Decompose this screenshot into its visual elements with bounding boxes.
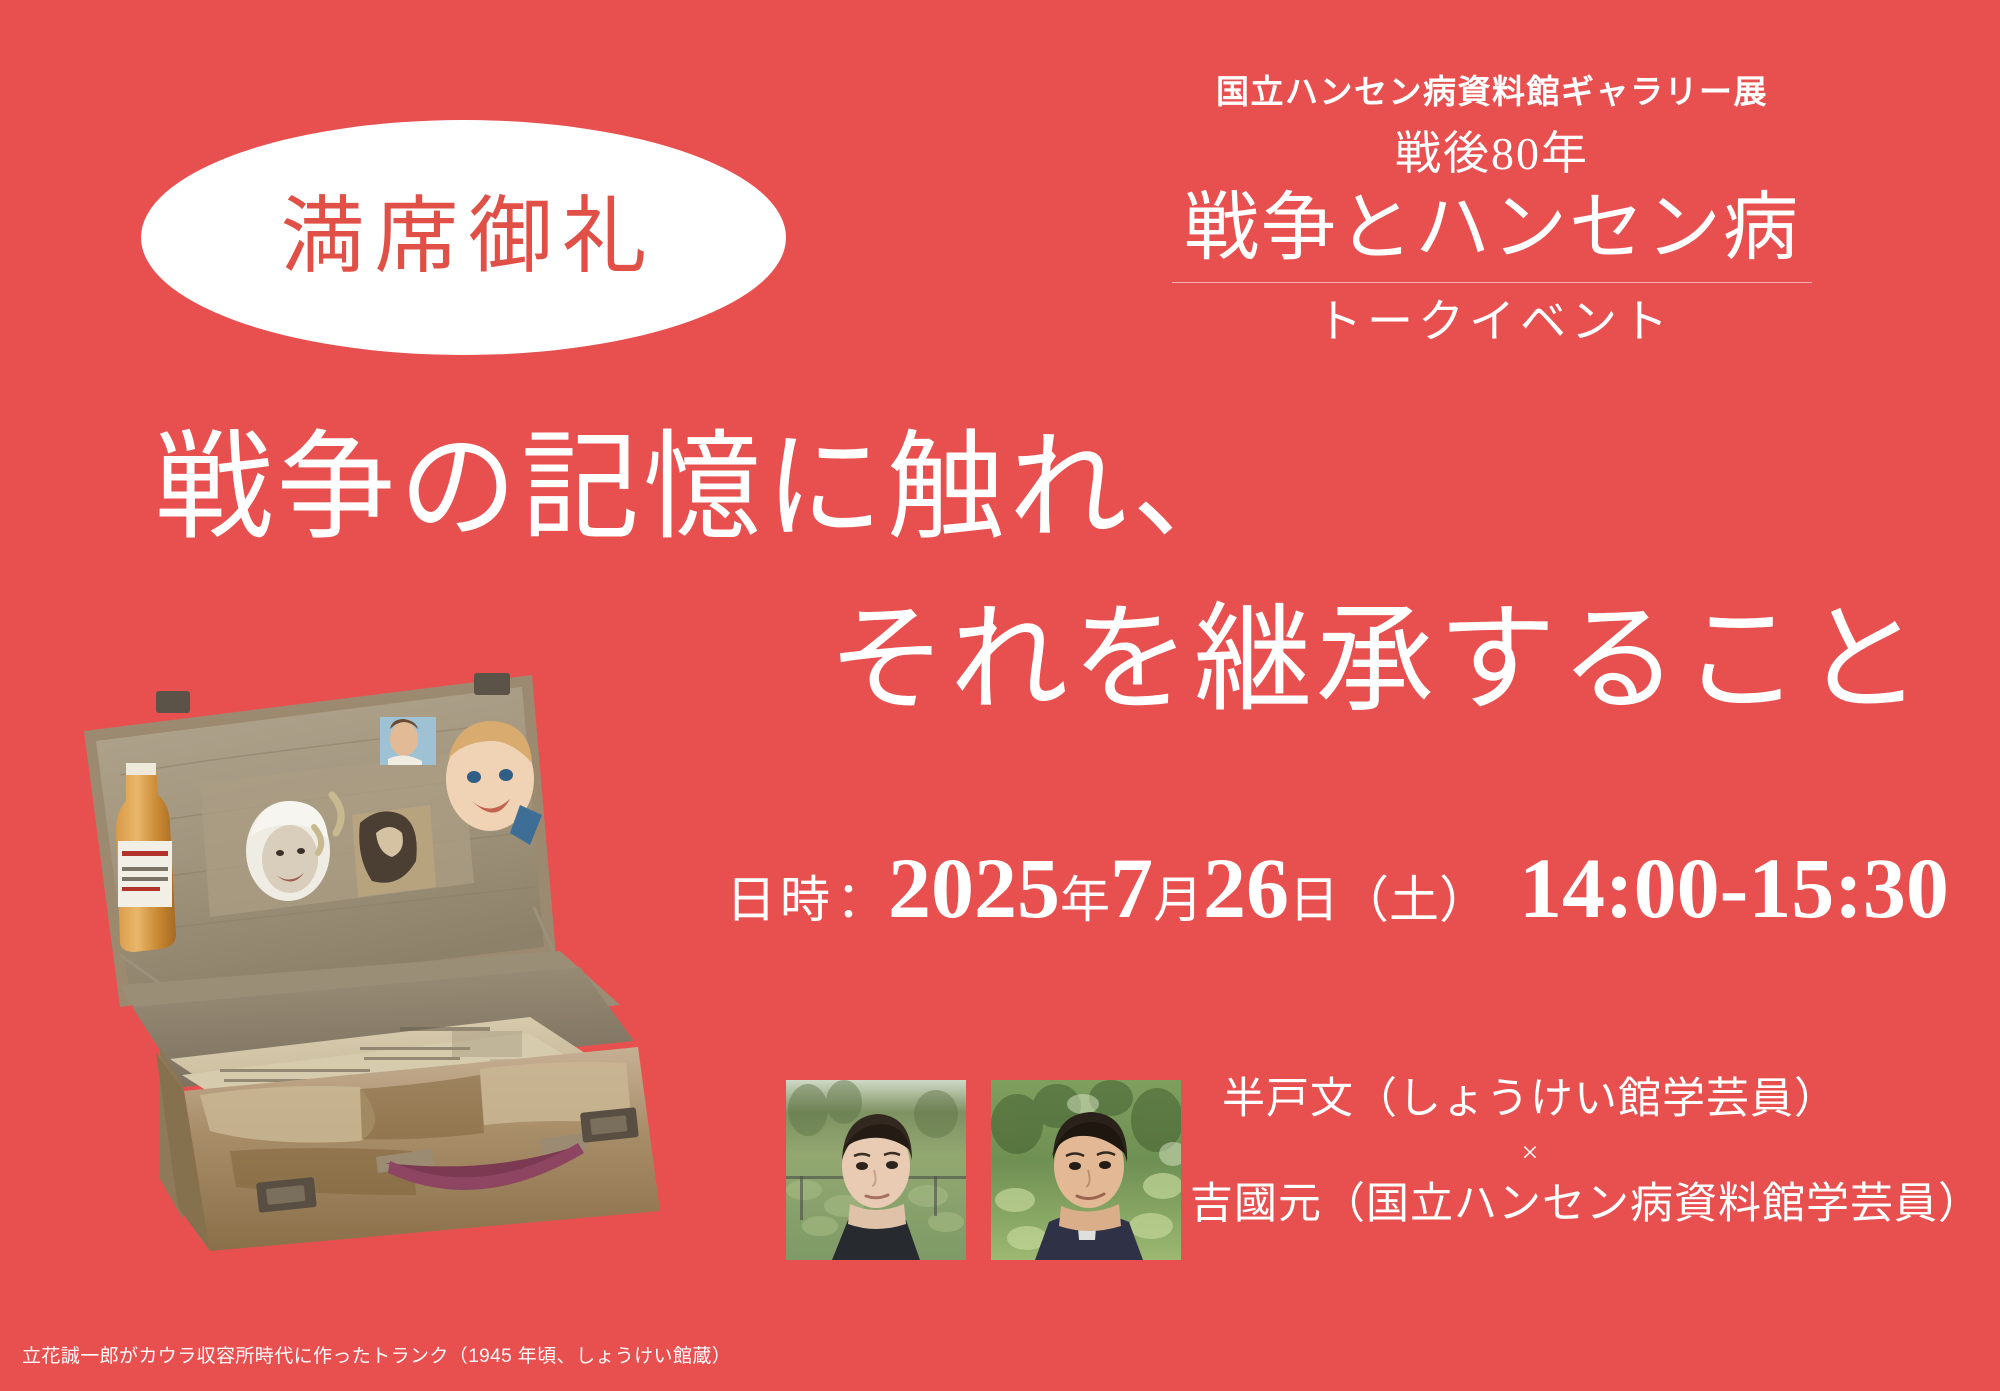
sold-out-label: 満席御礼 — [270, 196, 656, 280]
exhibition-title: 戦争とハンセン病 — [1102, 186, 1882, 272]
speaker-name-first: 半戸文（しょうけい館学芸員） — [1190, 1075, 1870, 1124]
datetime-row: 日時 ： 2025 年 7 月 26 日 （土） 14:00-15:30 — [726, 838, 1949, 938]
datetime-month-unit: 月 — [1153, 860, 1203, 932]
trunk-body — [120, 951, 662, 1251]
datetime-colon: ： — [836, 860, 886, 932]
datetime-year: 2025 — [888, 838, 1060, 938]
headline-line-1: 戦争の記憶に触れ、 — [155, 415, 1254, 563]
datetime-month: 7 — [1110, 838, 1153, 938]
datetime-time: 14:00-15:30 — [1519, 838, 1949, 938]
header-block: 国立ハンセン病資料館ギャラリー展 戦後80年 戦争とハンセン病 トークイベント — [1102, 75, 1882, 348]
pinup-clipping — [380, 717, 436, 765]
headline-line-2: それを継承すること — [828, 587, 1926, 735]
header-divider — [1172, 282, 1812, 283]
poster-root: 満席御礼 国立ハンセン病資料館ギャラリー展 戦後80年 戦争とハンセン病 トーク… — [0, 0, 2000, 1391]
datetime-day-unit: 日 — [1289, 860, 1339, 932]
anniversary-label: 戦後80年 — [1102, 129, 1882, 180]
figure-clipping — [352, 805, 436, 897]
speaker-cross-symbol: × — [1190, 1138, 1870, 1168]
photo-caption: 立花誠一郎がカウラ収容所時代に作ったトランク（1945 年頃、しょうけい館蔵） — [22, 1341, 731, 1368]
speakers-block: 半戸文（しょうけい館学芸員） × 吉國元（国立ハンセン病資料館学芸員） — [1190, 1075, 1870, 1230]
speaker-portrait-right — [991, 1080, 1181, 1260]
datetime-year-unit: 年 — [1060, 860, 1110, 932]
exhibition-name: 国立ハンセン病資料館ギャラリー展 — [1102, 75, 1882, 111]
datetime-day: 26 — [1203, 838, 1289, 938]
sold-out-badge: 満席御礼 — [141, 120, 786, 355]
trunk-photograph — [60, 655, 700, 1295]
speaker-name-second: 吉國元（国立ハンセン病資料館学芸員） — [1190, 1180, 1870, 1229]
datetime-label: 日時 — [726, 860, 834, 932]
datetime-weekday: （土） — [1339, 860, 1489, 932]
speaker-portrait-left — [786, 1080, 966, 1260]
event-type-label: トークイベント — [1102, 297, 1882, 348]
